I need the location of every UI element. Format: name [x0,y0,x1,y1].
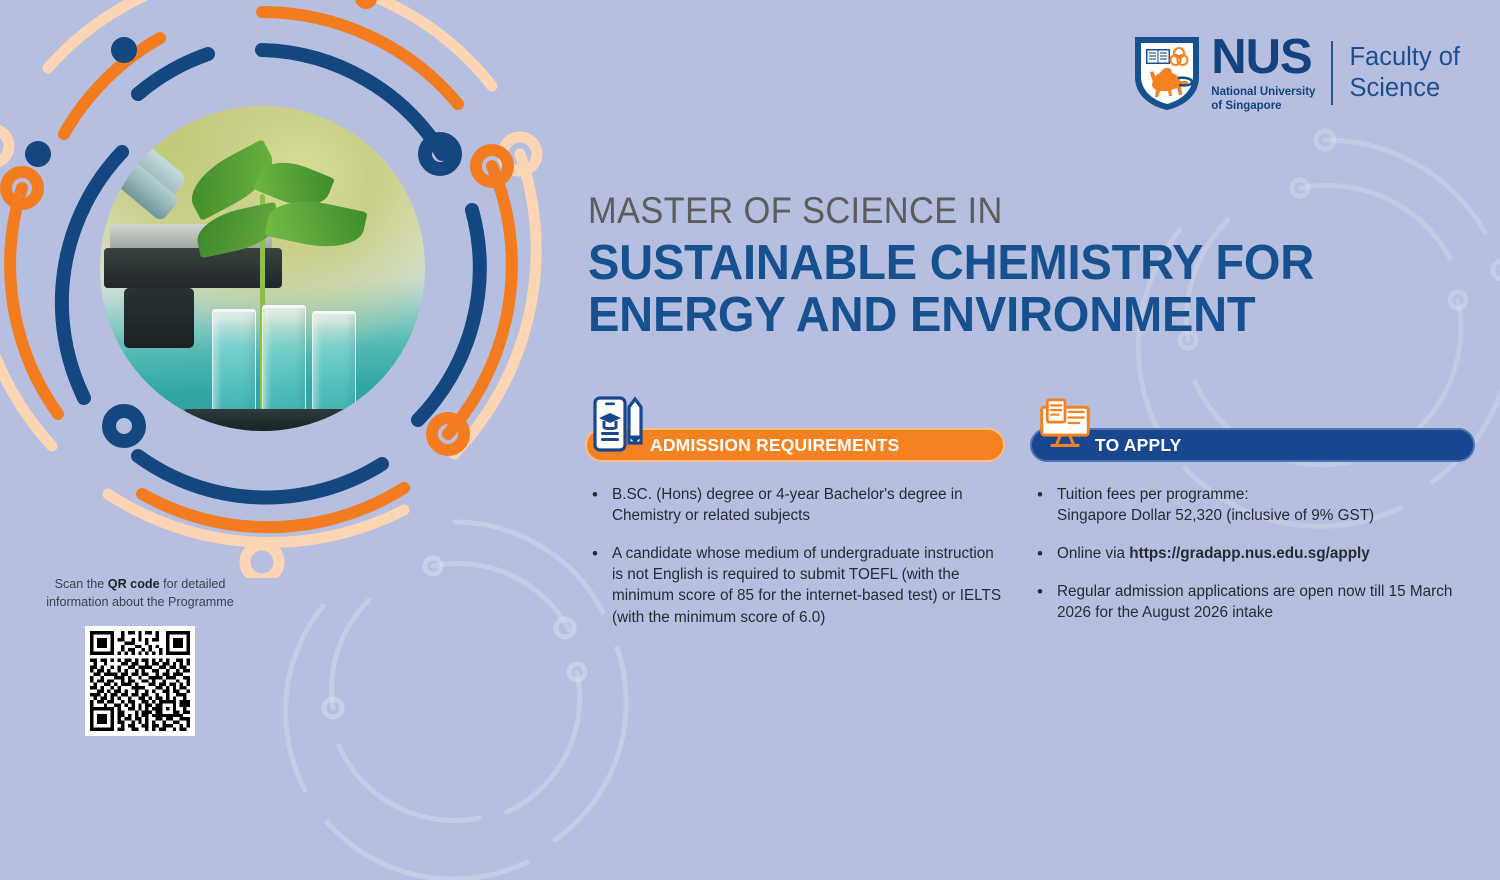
nus-logo: NUS National University of Singapore Fac… [1132,33,1460,113]
logo-divider [1331,41,1333,105]
qr-caption-post: for detailed [160,577,226,591]
section-admission-requirements: ADMISSION REQUIREMENTS B.SC. (Hons) degr… [585,396,1005,645]
list-item: Online via https://gradapp.nus.edu.sg/ap… [1030,543,1475,564]
page-title: MASTER OF SCIENCE IN SUSTAINABLE CHEMIST… [588,192,1468,342]
title-kicker: MASTER OF SCIENCE IN [588,192,1406,229]
qr-block: Scan the QR code for detailed informatio… [40,576,240,736]
logo-subtitle-line1: National University [1211,85,1315,99]
title-line-2: ENERGY AND ENVIRONMENT [588,290,1433,342]
qr-code-icon[interactable] [85,626,195,736]
qr-caption-pre: Scan the [55,577,108,591]
qr-code-svg [90,631,190,731]
qr-caption-line2: information about the Programme [46,595,234,609]
apply-bullet-list: Tuition fees per programme: Singapore Do… [1030,484,1475,624]
mobile-graduation-pencil-icon [593,396,647,452]
list-item: Tuition fees per programme: Singapore Do… [1030,484,1475,526]
hero-rings [0,0,572,578]
logo-subtitle-line2: of Singapore [1211,99,1315,113]
faculty-line2: Science [1349,73,1460,104]
apply-url[interactable]: https://gradapp.nus.edu.sg/apply [1129,545,1370,562]
admission-header-bar: ADMISSION REQUIREMENTS [585,428,1005,462]
logo-wordmark: NUS [1211,33,1315,82]
qr-caption-bold: QR code [108,577,160,591]
apply-link-prefix: Online via [1057,545,1129,562]
nus-shield-lion-icon [1132,34,1202,112]
list-item: Regular admission applications are open … [1030,581,1475,623]
list-item: A candidate whose medium of undergraduat… [585,543,1005,627]
section-to-apply: TO APPLY Tuition fees per programme: Sin… [1030,396,1475,641]
admission-bullet-list: B.SC. (Hons) degree or 4-year Bachelor's… [585,484,1005,628]
qr-caption: Scan the QR code for detailed informatio… [40,576,240,612]
hero-circle-graphic [0,0,572,578]
faculty-line1: Faculty of [1349,42,1460,73]
list-item: B.SC. (Hons) degree or 4-year Bachelor's… [585,484,1005,526]
desktop-monitor-documents-icon [1038,396,1092,452]
title-line-1: SUSTAINABLE CHEMISTRY FOR [588,238,1433,290]
apply-header-bar: TO APPLY [1030,428,1475,462]
